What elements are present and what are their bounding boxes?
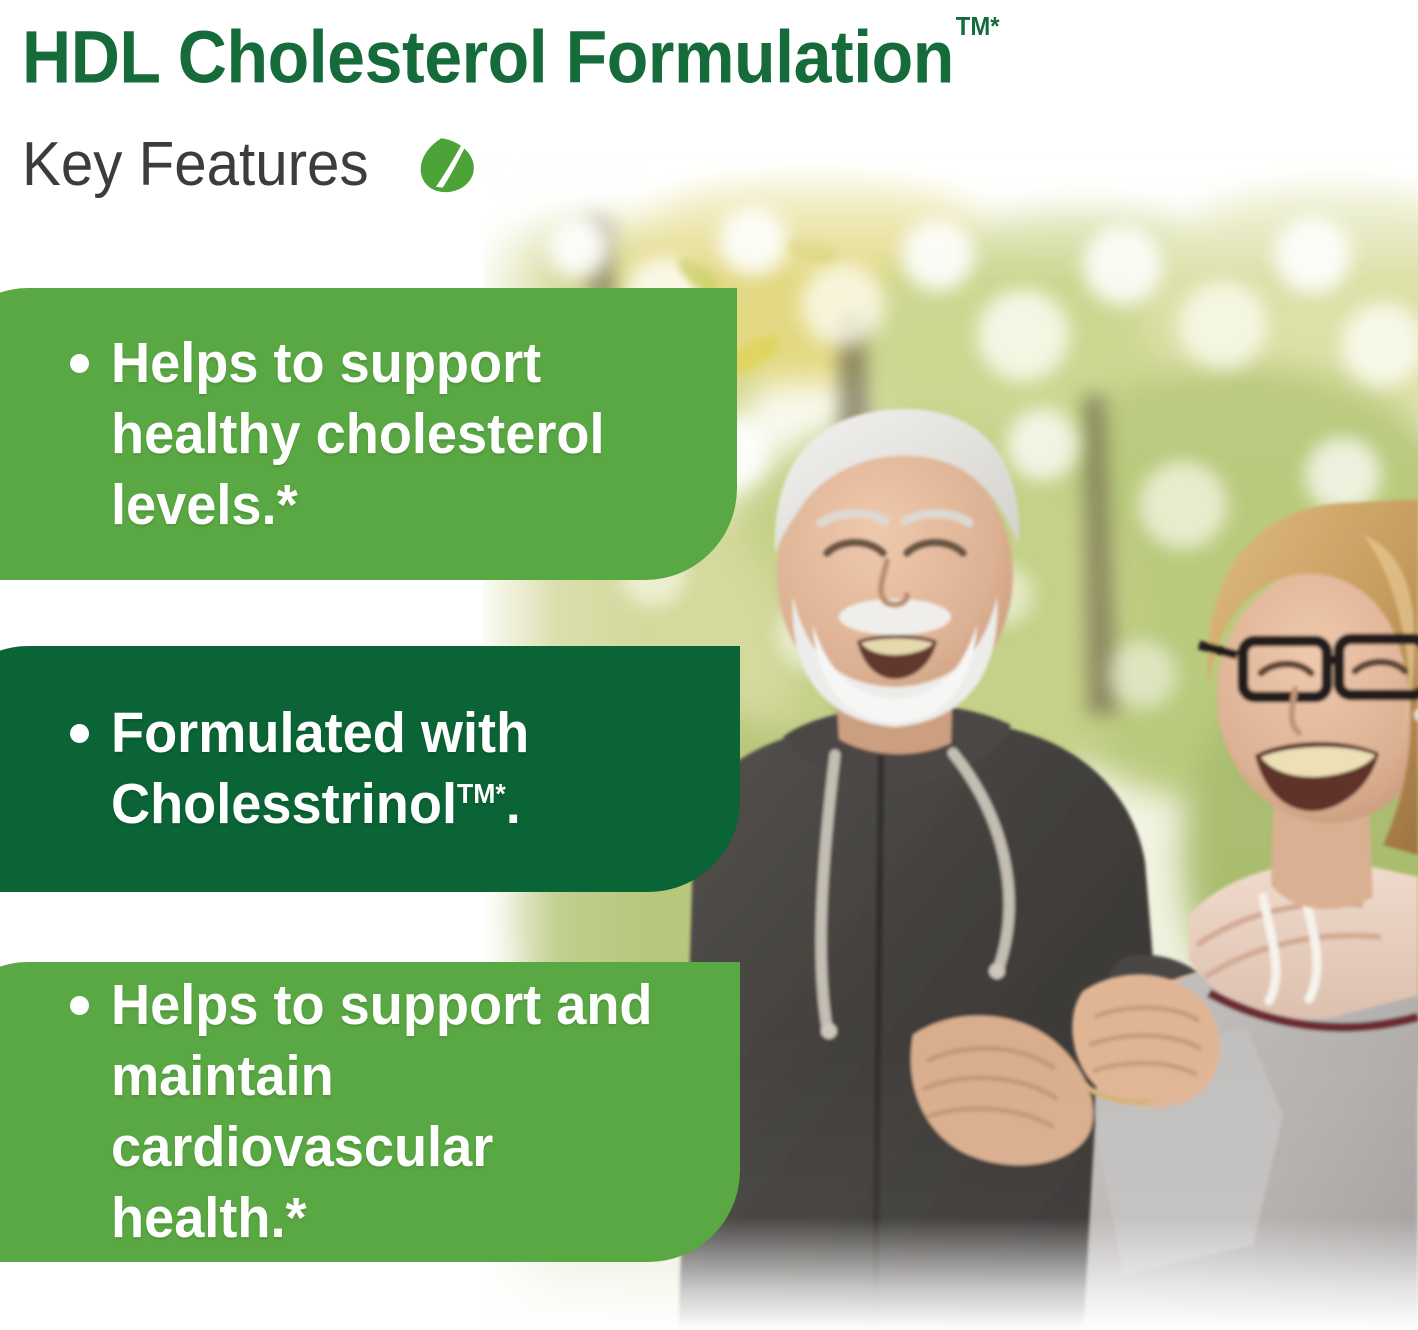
title-block: HDL Cholesterol FormulationTM* [22, 8, 1312, 100]
page-title: HDL Cholesterol FormulationTM* [22, 8, 998, 98]
feature-callout-3-inner: Helps to support and maintain cardiovasc… [0, 970, 740, 1254]
feature-text-2: Formulated with CholesstrinolTM*. [111, 698, 686, 840]
feature-text-1: Helps to support healthy cholesterol lev… [111, 328, 683, 541]
feature-callout-1: Helps to support healthy cholesterol lev… [0, 288, 737, 580]
feature-callout-3: Helps to support and maintain cardiovasc… [0, 962, 740, 1262]
product-title-text: HDL Cholesterol Formulation [22, 16, 954, 99]
leaf-icon [415, 134, 477, 196]
feature-callout-2-inner: Formulated with CholesstrinolTM*. [0, 698, 740, 840]
title-trademark: TM* [956, 11, 1000, 41]
bullet-dot-icon [70, 724, 89, 743]
key-features-label: Key Features [22, 132, 369, 198]
feature-callout-1-inner: Helps to support healthy cholesterol lev… [0, 328, 737, 541]
feature-callout-2: Formulated with CholesstrinolTM*. [0, 646, 740, 892]
feature-text-3: Helps to support and maintain cardiovasc… [111, 970, 686, 1254]
bullet-dot-icon [70, 996, 89, 1015]
feature-text-2-superscript: TM* [457, 778, 506, 809]
product-feature-banner: HDL Cholesterol FormulationTM* Key Featu… [0, 0, 1418, 1330]
feature-text-2-main: Formulated with Cholesstrinol [111, 701, 529, 836]
feature-text-2-period: . [506, 772, 521, 836]
key-features-heading: Key Features [22, 132, 477, 198]
bullet-dot-icon [70, 354, 89, 373]
